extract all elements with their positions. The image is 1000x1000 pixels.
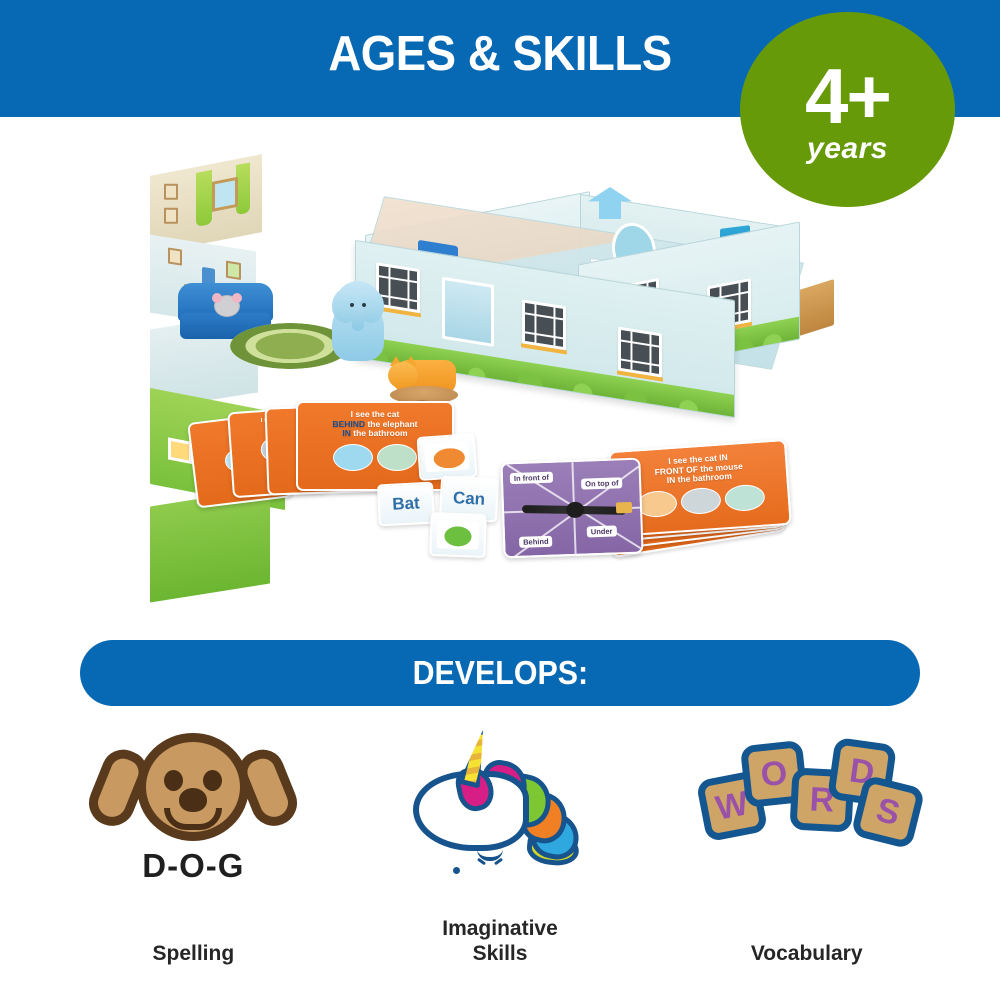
sentence-line-1: I see the cat	[351, 409, 400, 419]
unicorn-icon	[395, 727, 605, 867]
sentence-keyword-2: IN	[342, 428, 351, 438]
develops-label: DEVELOPS:	[412, 654, 587, 692]
window-icon	[618, 327, 662, 378]
window-icon	[522, 299, 566, 350]
word-blocks-icon: W O R D S	[697, 733, 917, 868]
sentence-line-3: the bathroom	[353, 428, 407, 438]
spinner-segment-label: On top of	[581, 477, 623, 489]
picture-card-grasshopper	[429, 512, 487, 558]
sliding-door-icon	[442, 277, 494, 347]
spinner-hub	[566, 502, 585, 519]
age-badge-value: 4+	[805, 61, 890, 133]
age-badge-unit: years	[807, 134, 888, 164]
skills-row: D-O-G Spelling Imaginative Skills	[40, 725, 960, 975]
develops-banner: DEVELOPS:	[80, 640, 920, 706]
unicorn-nostril-icon	[453, 867, 460, 874]
spinner-needle-tip	[616, 502, 632, 514]
picture-card-dog	[417, 433, 478, 481]
spinner-segment-label: Behind	[519, 536, 553, 548]
wall-art-icon	[164, 208, 178, 224]
curtain-icon	[236, 162, 250, 215]
dog-spelling-text: D-O-G	[142, 847, 244, 885]
mouse-figure	[214, 295, 240, 317]
product-photo: I see I sON th IF I see the cat BEHIND t…	[150, 165, 850, 610]
dog-mouth-icon	[164, 808, 222, 830]
skill-item-imaginative: Imaginative Skills	[347, 725, 654, 975]
skill-label-spelling: Spelling	[40, 942, 347, 967]
sentence-line-2: the elephant	[367, 419, 417, 429]
word-card-bat: Bat	[377, 482, 435, 527]
curtain-icon	[196, 170, 212, 227]
preposition-spinner[interactable]: In front of On top of Behind Under	[500, 458, 643, 559]
dog-eye-icon	[164, 770, 183, 791]
window-icon	[212, 177, 238, 212]
skill-label-imaginative: Imaginative Skills	[347, 917, 654, 967]
sentence-keyword-1: BEHIND	[332, 419, 365, 429]
skill-item-vocabulary: W O R D S Vocabulary	[653, 725, 960, 975]
spinner-segment-label: Under	[587, 525, 617, 537]
spinner-segment-label: In front of	[510, 472, 553, 484]
skill-item-spelling: D-O-G Spelling	[40, 725, 347, 975]
wall-art-icon	[168, 247, 182, 265]
elephant-figure	[318, 275, 398, 363]
skill-label-vocabulary: Vocabulary	[653, 942, 960, 967]
wall-art-icon	[226, 261, 241, 280]
unicorn-eye-icon	[477, 849, 503, 861]
wall-art-icon	[164, 184, 178, 200]
dog-eye-icon	[203, 770, 222, 791]
dog-face-icon	[93, 731, 293, 845]
